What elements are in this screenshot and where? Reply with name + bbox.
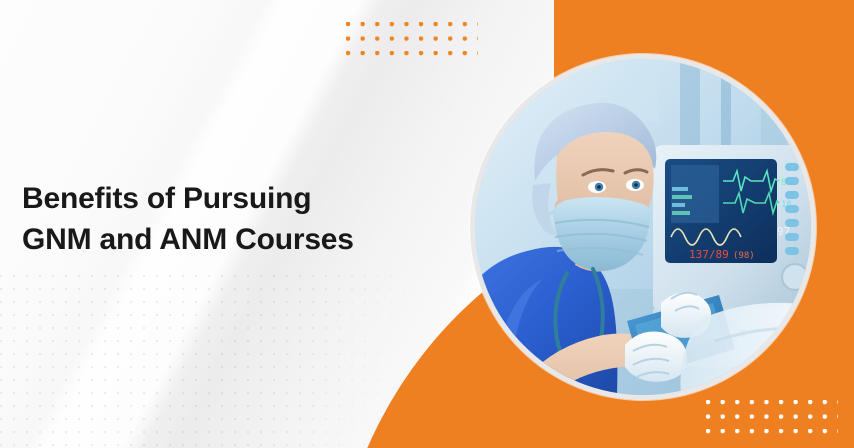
nurse-scene-illustration: 83 18 97 137/89 (98): [475, 59, 811, 395]
orange-dot-grid: [346, 22, 478, 58]
gloved-hand-lower: [625, 332, 687, 382]
hero-photo-inner: 83 18 97 137/89 (98): [475, 59, 811, 395]
promo-banner: 83 18 97 137/89 (98): [0, 0, 854, 448]
white-dot-grid: [706, 400, 838, 436]
banner-headline: Benefits of Pursuing GNM and ANM Courses: [22, 178, 442, 260]
hero-photo: 83 18 97 137/89 (98): [475, 59, 811, 395]
